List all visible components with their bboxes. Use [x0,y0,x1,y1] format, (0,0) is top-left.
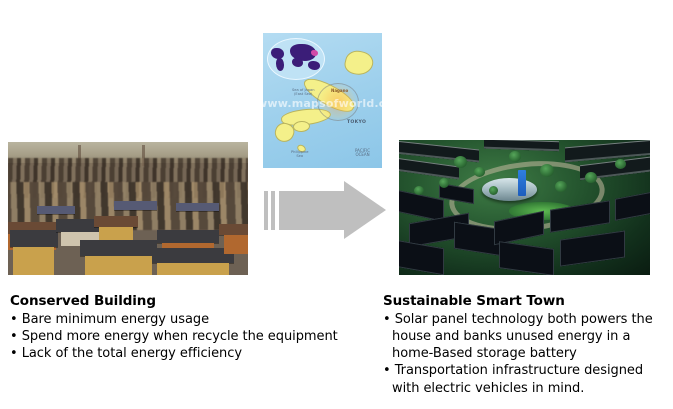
world-inset-map [267,38,325,80]
caption-left-heading: Conserved Building [10,293,360,310]
photo-conserved-housing [8,142,248,275]
arrow-tail-bar [271,191,275,230]
right-arrow-icon [264,181,386,240]
caption-right-heading: Sustainable Smart Town [383,293,668,310]
arrow-tail-bar [264,191,268,230]
map-label-sea-of-japan: Sea of Japan (East Sea) [292,89,314,97]
arrow-head [344,181,386,239]
house-roof [157,230,219,243]
tree-icon [540,164,554,177]
continent-highlight [311,50,318,56]
bullet-item: Transportation infrastructure designed w… [383,362,668,396]
house-wall [85,256,152,275]
map-of-japan: Sea of Japan (East Sea) Nagano TOKYO Phi… [263,33,382,168]
house-roof [37,206,75,214]
house-roof [176,203,219,211]
bullet-item: Bare minimum energy usage [10,311,360,328]
continent-shape [276,58,284,71]
house-roof [114,201,157,210]
caption-left-bullets: Bare minimum energy usage Spend more ene… [10,311,360,362]
tree-icon [615,159,626,169]
house-wall [224,235,248,254]
caption-conserved-building: Conserved Building Bare minimum energy u… [10,293,360,362]
map-watermark: www.mapsofworld.com [263,97,382,110]
house-roof [80,240,157,256]
house-roof [10,230,58,247]
arrow-shaft [279,191,346,230]
tree-icon [439,178,449,188]
house-roof [94,216,137,227]
caption-right-bullets: Solar panel technology both powers the h… [383,311,668,397]
bullet-item: Spend more energy when recycle the equip… [10,328,360,345]
continent-shape [292,58,303,67]
house-roof [152,248,234,263]
photo-smart-town [399,140,650,275]
slide-canvas: Sea of Japan (East Sea) Nagano TOKYO Phi… [0,0,673,409]
map-label-pacific-ocean: PACIFIC OCEAN [355,149,370,157]
tree-icon [414,186,424,195]
tree-icon [555,181,567,192]
map-label-tokyo: TOKYO [347,121,366,126]
continent-shape [308,61,320,70]
map-label-nagano: Nagano [331,89,348,93]
house-wall [157,263,229,275]
map-label-philippine-sea: Philippine Sea [291,151,309,159]
caption-sustainable-smart-town: Sustainable Smart Town Solar panel techn… [383,293,668,397]
bullet-item: Solar panel technology both powers the h… [383,311,668,362]
bullet-item: Lack of the total energy efficiency [10,345,360,362]
hub-tower [518,170,526,196]
house-roof [219,224,248,235]
house-wall [13,247,54,275]
